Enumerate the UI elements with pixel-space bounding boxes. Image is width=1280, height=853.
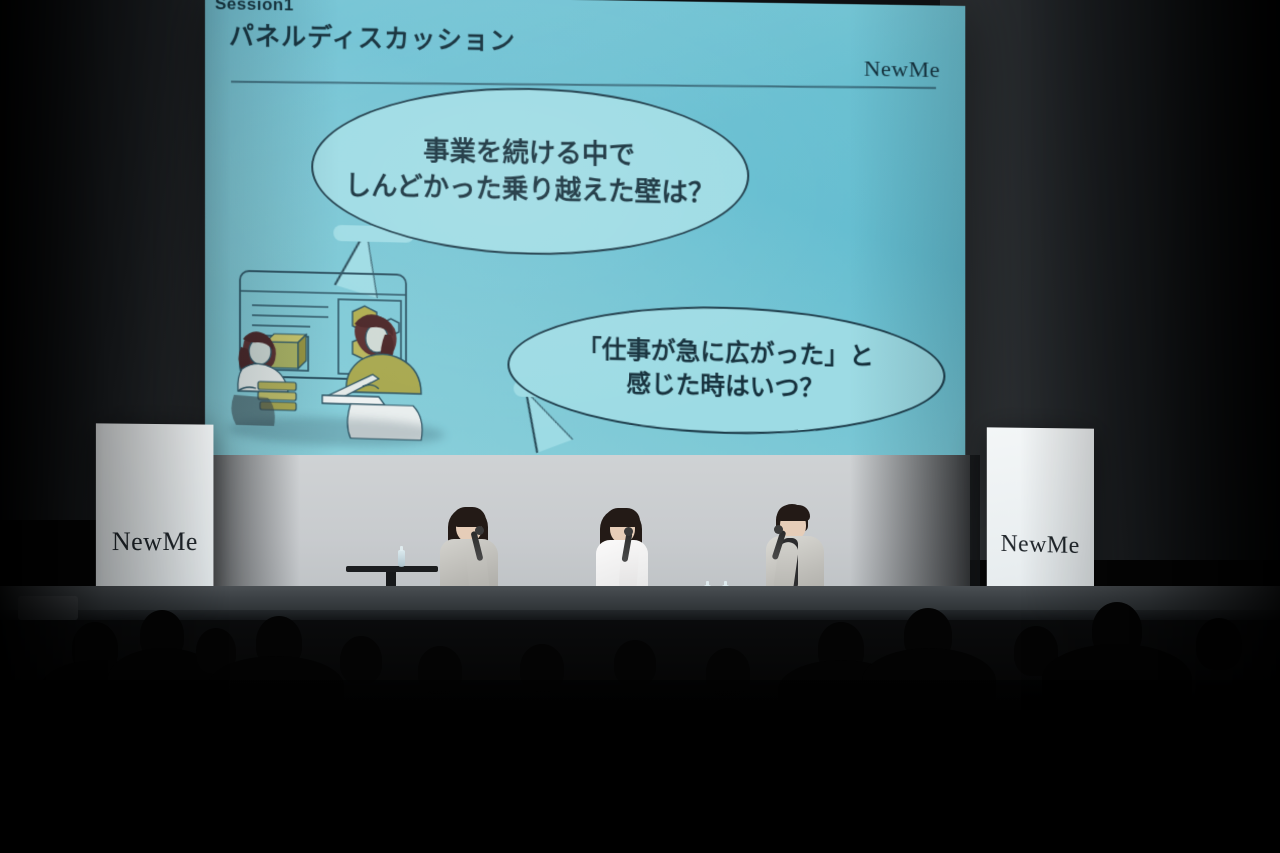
stage-photo: Session1 パネルディスカッション NewMe 事業を続ける中で しんどか… bbox=[0, 0, 1280, 853]
back-wall-shadow-right bbox=[850, 455, 980, 605]
slide-divider bbox=[231, 81, 936, 89]
hair-front bbox=[605, 508, 640, 527]
hair-front bbox=[452, 507, 486, 527]
microphone-head bbox=[475, 526, 484, 535]
slide-session-label: Session1 bbox=[215, 0, 294, 15]
water-bottle bbox=[398, 550, 405, 567]
foreground-darkness bbox=[0, 680, 1280, 853]
banner-left-logo: NewMe bbox=[112, 527, 198, 557]
speech-bubble-question-2: 「仕事が急に広がった」と 感じた時はいつ？ bbox=[507, 301, 945, 440]
bubble-1-line-2: しんどかった乗り越えた壁は？ bbox=[345, 167, 715, 210]
hair-front bbox=[777, 505, 810, 521]
microphone-head bbox=[774, 525, 783, 534]
banner-right-logo: NewMe bbox=[1001, 530, 1080, 559]
projection-screen: Session1 パネルディスカッション NewMe 事業を続ける中で しんどか… bbox=[205, 0, 965, 489]
slide-brand-logo: NewMe bbox=[864, 55, 940, 83]
speaker-cabinet bbox=[18, 596, 78, 620]
microphone-head bbox=[624, 527, 633, 536]
slide-illustration bbox=[210, 264, 472, 457]
slide-title: パネルディスカッション bbox=[229, 16, 516, 57]
